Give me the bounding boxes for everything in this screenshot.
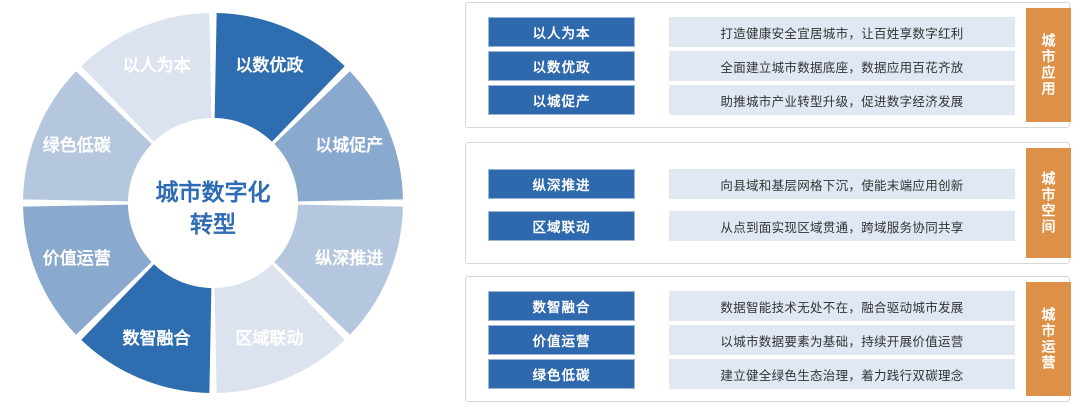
row-label-badge[interactable]: 价值运营: [488, 325, 635, 355]
row-description: 从点到面实现区域贯通，跨域服务协同共享: [669, 211, 1015, 241]
row-description: 助推城市产业转型升级，促进数字经济发展: [669, 85, 1015, 115]
row-label-badge[interactable]: 以城促产: [488, 85, 635, 115]
row-description: 数据智能技术无处不在，融合驱动城市发展: [669, 291, 1015, 321]
wheel-segment-label: 以人为本: [123, 55, 191, 75]
category-tab-city-application[interactable]: 城市应用: [1026, 8, 1071, 122]
row-description: 打造健康安全宜居城市，让百姓享数字红利: [669, 17, 1015, 47]
wheel-segment-label: 以数优政: [235, 55, 304, 75]
wheel-segment-label: 区域联动: [235, 328, 303, 348]
row-label-badge[interactable]: 以数优政: [488, 51, 635, 81]
wheel-center-title-line2: 转型: [190, 211, 236, 237]
wheel-segment-label: 以城促产: [315, 135, 383, 155]
category-tab-city-space[interactable]: 城市空间: [1026, 148, 1071, 258]
row-description: 全面建立城市数据底座，数据应用百花齐放: [669, 51, 1015, 81]
wheel-svg: 以数优政以城促产纵深推进区域联动数智融合价值运营绿色低碳以人为本 城市数字化 转…: [0, 0, 440, 406]
row-label-badge[interactable]: 以人为本: [488, 17, 635, 47]
city-digital-transformation-wheel: 以数优政以城促产纵深推进区域联动数智融合价值运营绿色低碳以人为本 城市数字化 转…: [0, 0, 440, 406]
wheel-segment-label: 绿色低碳: [43, 135, 112, 155]
wheel-segment-label: 数智融合: [123, 328, 192, 348]
category-tab-city-operation[interactable]: 城市运营: [1026, 282, 1071, 396]
wheel-segment-label: 纵深推进: [315, 248, 383, 268]
row-label-badge[interactable]: 区域联动: [488, 211, 635, 241]
row-label-badge[interactable]: 绿色低碳: [488, 359, 635, 389]
row-description: 以城市数据要素为基础，持续开展价值运营: [669, 325, 1015, 355]
panel-city-operation: 数智融合数据智能技术无处不在，融合驱动城市发展价值运营以城市数据要素为基础，持续…: [465, 276, 1070, 402]
row-label-badge[interactable]: 纵深推进: [488, 169, 635, 199]
panel-city-application: 以人为本打造健康安全宜居城市，让百姓享数字红利以数优政全面建立城市数据底座，数据…: [465, 2, 1070, 128]
panel-city-space: 纵深推进向县域和基层网格下沉，使能末端应用创新区域联动从点到面实现区域贯通，跨域…: [465, 142, 1070, 264]
row-label-badge[interactable]: 数智融合: [488, 291, 635, 321]
wheel-center-title-line1: 城市数字化: [156, 179, 271, 205]
wheel-segment-label: 价值运营: [43, 248, 111, 268]
row-description: 建立健全绿色生态治理，着力践行双碳理念: [669, 359, 1015, 389]
row-description: 向县域和基层网格下沉，使能末端应用创新: [669, 169, 1015, 199]
